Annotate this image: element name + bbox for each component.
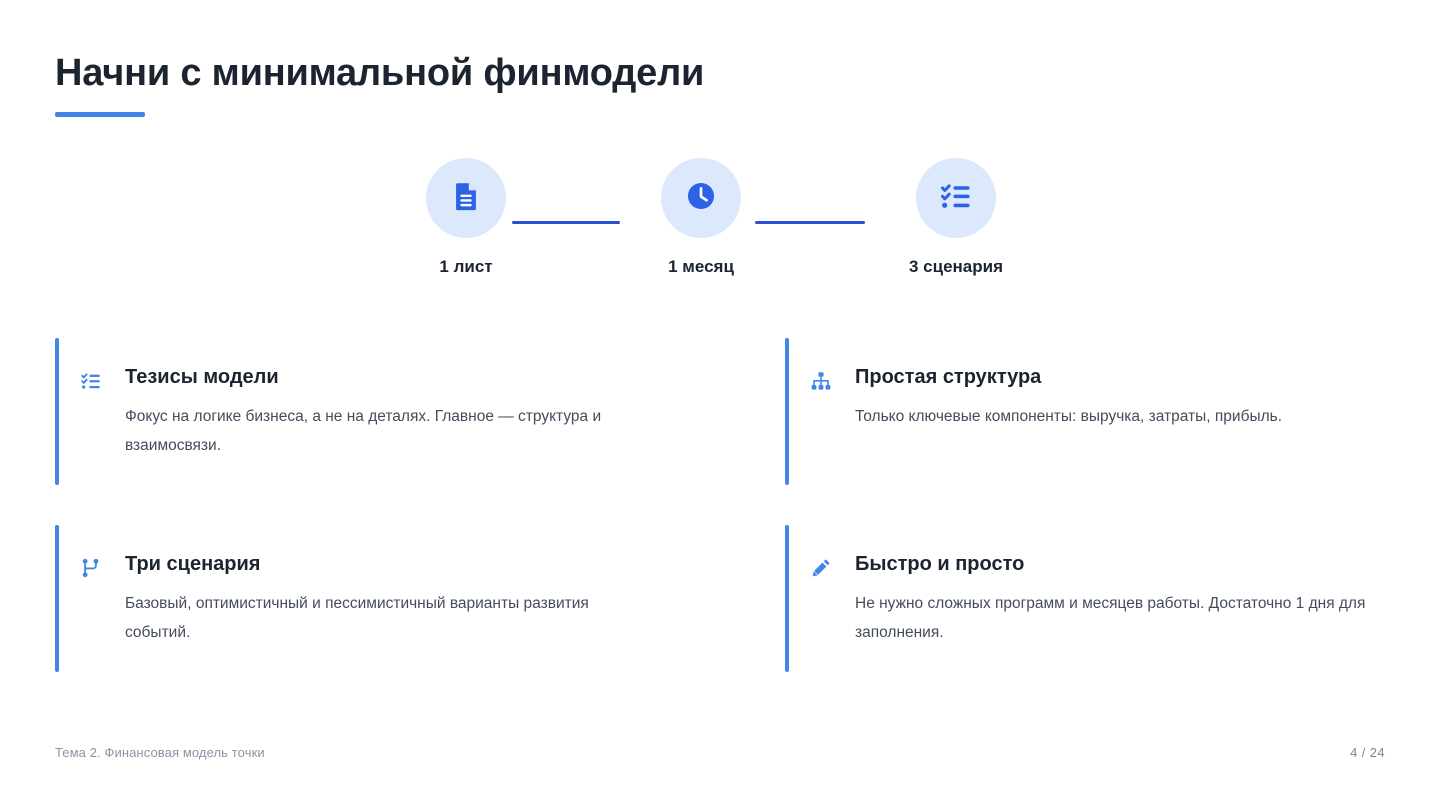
slide-footer: Тема 2. Финансовая модель точки 4 / 24 (55, 745, 1385, 760)
step-label-1: 1 лист (386, 257, 546, 277)
card-text: Фокус на логике бизнеса, а не на деталях… (125, 402, 655, 460)
card-accent-bar (785, 338, 789, 485)
card-theses[interactable]: Тезисы модели Фокус на логике бизнеса, а… (55, 338, 655, 485)
steps-row: 1 лист 1 месяц (386, 158, 1056, 288)
card-text: Не нужно сложных программ и месяцев рабо… (855, 589, 1385, 647)
card-scenarios[interactable]: Три сценария Базовый, оптимистичный и пе… (55, 525, 655, 672)
checklist-icon (939, 179, 973, 218)
footer-topic-label: Тема 2. Финансовая модель точки (55, 745, 265, 760)
card-accent-bar (55, 525, 59, 672)
step-item-3[interactable]: 3 сценария (876, 158, 1036, 277)
card-title: Простая структура (855, 364, 1385, 390)
cards-row-2: Три сценария Базовый, оптимистичный и пе… (55, 525, 1385, 672)
card-accent-bar (55, 338, 59, 485)
clock-icon (684, 179, 718, 218)
step-label-3: 3 сценария (876, 257, 1036, 277)
cards-grid: Тезисы модели Фокус на логике бизнеса, а… (55, 338, 1385, 672)
card-fast-simple[interactable]: Быстро и просто Не нужно сложных програм… (785, 525, 1385, 672)
step-item-2[interactable]: 1 месяц (621, 158, 781, 277)
title-accent-rule (55, 112, 145, 117)
card-accent-bar (785, 525, 789, 672)
step-label-2: 1 месяц (621, 257, 781, 277)
hierarchy-icon (809, 369, 833, 393)
cards-row-1: Тезисы модели Фокус на логике бизнеса, а… (55, 338, 1385, 485)
card-title: Три сценария (125, 551, 655, 577)
card-title: Быстро и просто (855, 551, 1385, 577)
step-icon-circle-1 (426, 158, 506, 238)
step-icon-circle-2 (661, 158, 741, 238)
document-icon (449, 179, 483, 218)
card-text: Базовый, оптимистичный и пессимистичный … (125, 589, 655, 647)
git-branch-icon (79, 556, 103, 580)
card-text: Только ключевые компоненты: выручка, зат… (855, 402, 1385, 431)
checklist-icon (79, 369, 103, 393)
step-item-1[interactable]: 1 лист (386, 158, 546, 277)
page-indicator: 4 / 24 (1350, 745, 1385, 760)
page-title: Начни с минимальной финмодели (55, 48, 704, 98)
pencil-icon (809, 556, 833, 580)
slide: Начни с минимальной финмодели 1 лист (0, 0, 1440, 810)
card-structure[interactable]: Простая структура Только ключевые компон… (785, 338, 1385, 485)
card-title: Тезисы модели (125, 364, 655, 390)
title-block: Начни с минимальной финмодели (55, 48, 704, 117)
step-icon-circle-3 (916, 158, 996, 238)
